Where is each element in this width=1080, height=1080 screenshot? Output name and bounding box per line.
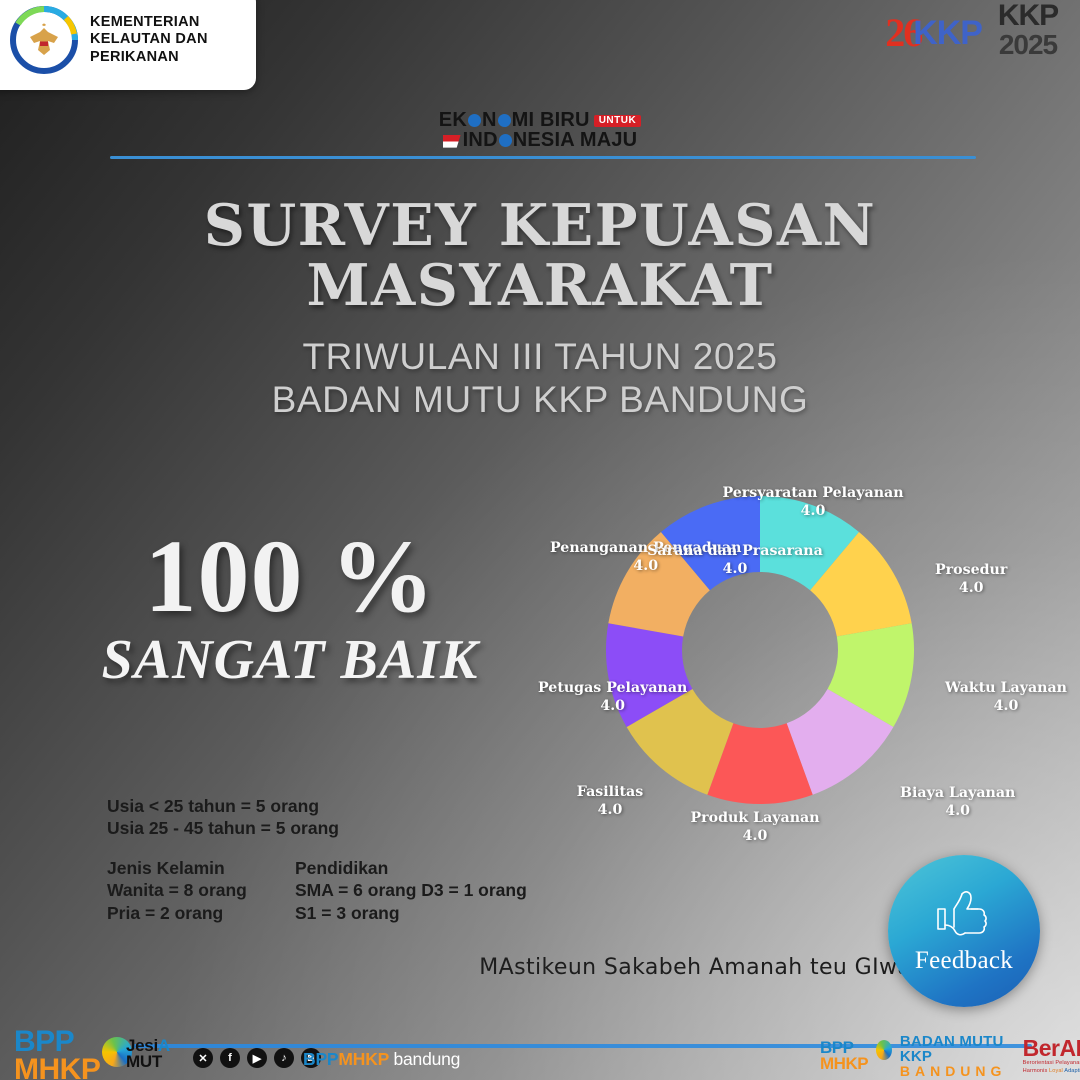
donut-label-value-3: 4.0 (900, 803, 1015, 821)
footer-bpp-mhkp-logo: BPP MHKP (14, 1028, 132, 1080)
donut-label-value-6: 4.0 (538, 698, 687, 716)
page-subtitle: TRIWULAN III TAHUN 2025 BADAN MUTU KKP B… (0, 336, 1080, 422)
score-percent: 100 % (100, 525, 480, 629)
footer-fish-swirl-icon (876, 1040, 892, 1060)
campaign-line1-part-a: EK (439, 109, 467, 131)
campaign-line-1: EKNMI BIRUUNTUK (0, 110, 1080, 130)
footer-bar: BPP MHKP JesiA MUT ✕ f ▶ ♪ ◙ BPPMHKP ban… (0, 1022, 1080, 1080)
handle-bpp: BPP (303, 1049, 338, 1069)
indonesia-flag-icon (443, 135, 461, 148)
blue-dot-o-icon-3 (499, 134, 512, 147)
garuda-emblem-icon (8, 4, 80, 76)
facebook-icon[interactable]: f (220, 1048, 240, 1068)
tiktok-icon[interactable]: ♪ (274, 1048, 294, 1068)
berakhlak-sub-1a: Berorientasi Pelayanan (1023, 1060, 1080, 1066)
anniversary-kkp-text: KKP (913, 14, 982, 53)
handle-city: bandung (393, 1049, 460, 1069)
donut-label-6: Petugas Pelayanan4.0 (538, 680, 687, 716)
title-line-1: SURVEY KEPUASAN (0, 196, 1080, 256)
x-icon[interactable]: ✕ (193, 1048, 213, 1068)
blue-dot-o-icon (468, 114, 481, 127)
donut-label-value-5: 4.0 (577, 802, 643, 820)
subtitle-line-2: BADAN MUTU KKP BANDUNG (0, 379, 1080, 422)
donut-label-value-4: 4.0 (690, 828, 819, 846)
thumbs-up-icon (932, 888, 996, 949)
badan-mutu-line-2: BANDUNG (900, 1064, 1011, 1078)
jesimut-logo: JesiA MUT (126, 1038, 170, 1070)
donut-label-value-0: 4.0 (722, 503, 903, 521)
footer-bpp-text: BPP (14, 1028, 100, 1056)
kkp-2025-logo: KKP 2025 (982, 2, 1074, 59)
feedback-badge[interactable]: Feedback (888, 855, 1040, 1007)
donut-label-value-2: 4.0 (945, 698, 1067, 716)
education-line-1: SMA = 6 orang D3 = 1 orang (295, 879, 595, 901)
gender-line-2: Pria = 2 orang (107, 902, 295, 924)
handle-mhkp: MHKP (338, 1049, 388, 1069)
footer-right-bpp-logo: BPP MHKP (820, 1040, 868, 1071)
kkp-2025-line1: KKP (982, 2, 1074, 31)
subtitle-line-1: TRIWULAN III TAHUN 2025 (0, 336, 1080, 379)
feedback-label: Feedback (915, 947, 1013, 975)
berakhlak-sub-2b: Loyal (1049, 1068, 1063, 1074)
campaign-line-2: INDNESIA MAJU (0, 130, 1080, 150)
footer-mhkp-text: MHKP (14, 1056, 100, 1080)
berakhlak-sub-2c: Adaptif (1064, 1068, 1080, 1074)
donut-label-2: Waktu Layanan4.0 (945, 680, 1067, 716)
berakhlak-title: BerAKHLAK (1023, 1037, 1080, 1060)
anniversary-26-logo: 26 KKP (885, 8, 982, 58)
motto-tagline: MAstikeun Sakabeh Amanah teu GIwar (440, 955, 960, 980)
education-line-2: S1 = 3 orang (295, 902, 595, 924)
ministry-name-line1: KEMENTERIAN (90, 14, 208, 31)
campaign-line2-part-b: NESIA MAJU (513, 129, 638, 151)
ministry-name-line3: PERIKANAN (90, 49, 208, 66)
demographics-spacer (107, 840, 595, 857)
score-rating-label: SANGAT BAIK (100, 631, 480, 690)
badan-mutu-line-1: BADAN MUTU KKP (900, 1034, 1011, 1064)
gender-column: Jenis Kelamin Wanita = 8 orang Pria = 2 … (107, 857, 295, 924)
berakhlak-logo: BerAKHLAK Berorientasi Pelayanan Akuntab… (1023, 1037, 1080, 1075)
footer-right-logos: BPP MHKP BADAN MUTU KKP BANDUNG BerAKHLA… (820, 1034, 1080, 1078)
kkp-2025-line2: 2025 (982, 31, 1074, 59)
donut-label-name-2: Waktu Layanan (945, 680, 1067, 696)
campaign-line1-part-c: MI BIRU (512, 109, 590, 131)
donut-label-8: Sarana dan Prasarana4.0 (647, 543, 823, 579)
title-line-2: MASYARAKAT (0, 256, 1080, 316)
donut-svg (600, 490, 920, 810)
satisfaction-donut-chart: Persyaratan Pelayanan4.0Prosedur4.0Waktu… (600, 490, 920, 810)
campaign-line2-part-a: IND (463, 129, 498, 151)
page-title: SURVEY KEPUASAN MASYARAKAT (0, 196, 1080, 317)
header-divider (110, 156, 976, 159)
campaign-banner: EKNMI BIRUUNTUK INDNESIA MAJU (0, 110, 1080, 151)
donut-label-name-1: Prosedur (935, 562, 1007, 578)
donut-label-name-3: Biaya Layanan (900, 785, 1015, 801)
social-icons-group: ✕ f ▶ ♪ ◙ (193, 1048, 321, 1068)
education-heading: Pendidikan (295, 857, 595, 879)
gender-heading: Jenis Kelamin (107, 857, 295, 879)
youtube-icon[interactable]: ▶ (247, 1048, 267, 1068)
campaign-line1-part-b: N (482, 109, 497, 131)
donut-label-0: Persyaratan Pelayanan4.0 (722, 485, 903, 521)
jesimut-line-2: MUT (126, 1054, 170, 1070)
satisfaction-score: 100 % SANGAT BAIK (100, 525, 480, 690)
donut-label-4: Produk Layanan4.0 (690, 810, 819, 846)
donut-label-name-0: Persyaratan Pelayanan (722, 485, 903, 501)
social-handle: BPPMHKP bandung (303, 1049, 460, 1070)
ministry-logo-badge: KEMENTERIAN KELAUTAN DAN PERIKANAN (0, 0, 256, 90)
age-line-2: Usia 25 - 45 tahun = 5 orang (107, 817, 595, 839)
donut-label-value-1: 4.0 (935, 580, 1007, 598)
age-line-1: Usia < 25 tahun = 5 orang (107, 795, 595, 817)
ministry-name-line2: KELAUTAN DAN (90, 31, 208, 48)
infographic-poster: KEMENTERIAN KELAUTAN DAN PERIKANAN 26 KK… (0, 0, 1080, 1080)
donut-label-value-8: 4.0 (647, 561, 823, 579)
donut-label-5: Fasilitas4.0 (577, 784, 643, 820)
demographics-block: Usia < 25 tahun = 5 orang Usia 25 - 45 t… (107, 795, 595, 924)
badan-mutu-logo: BADAN MUTU KKP BANDUNG (900, 1034, 1011, 1078)
footer-right-mhkp-text: MHKP (820, 1056, 868, 1072)
donut-label-1: Prosedur4.0 (935, 562, 1007, 598)
donut-label-name-5: Fasilitas (577, 784, 643, 800)
gender-line-1: Wanita = 8 orang (107, 879, 295, 901)
campaign-untuk-badge: UNTUK (594, 115, 642, 127)
education-column: Pendidikan SMA = 6 orang D3 = 1 orang S1… (295, 857, 595, 924)
berakhlak-sub-2a: Harmonis (1023, 1068, 1048, 1074)
donut-label-name-4: Produk Layanan (690, 810, 819, 826)
demographics-columns: Jenis Kelamin Wanita = 8 orang Pria = 2 … (107, 857, 595, 924)
blue-dot-o-icon-2 (498, 114, 511, 127)
donut-label-3: Biaya Layanan4.0 (900, 785, 1015, 821)
donut-label-name-8: Sarana dan Prasarana (647, 543, 823, 559)
donut-label-name-6: Petugas Pelayanan (538, 680, 687, 696)
berakhlak-subtitle: Berorientasi Pelayanan Akuntabel Kompete… (1023, 1060, 1080, 1075)
